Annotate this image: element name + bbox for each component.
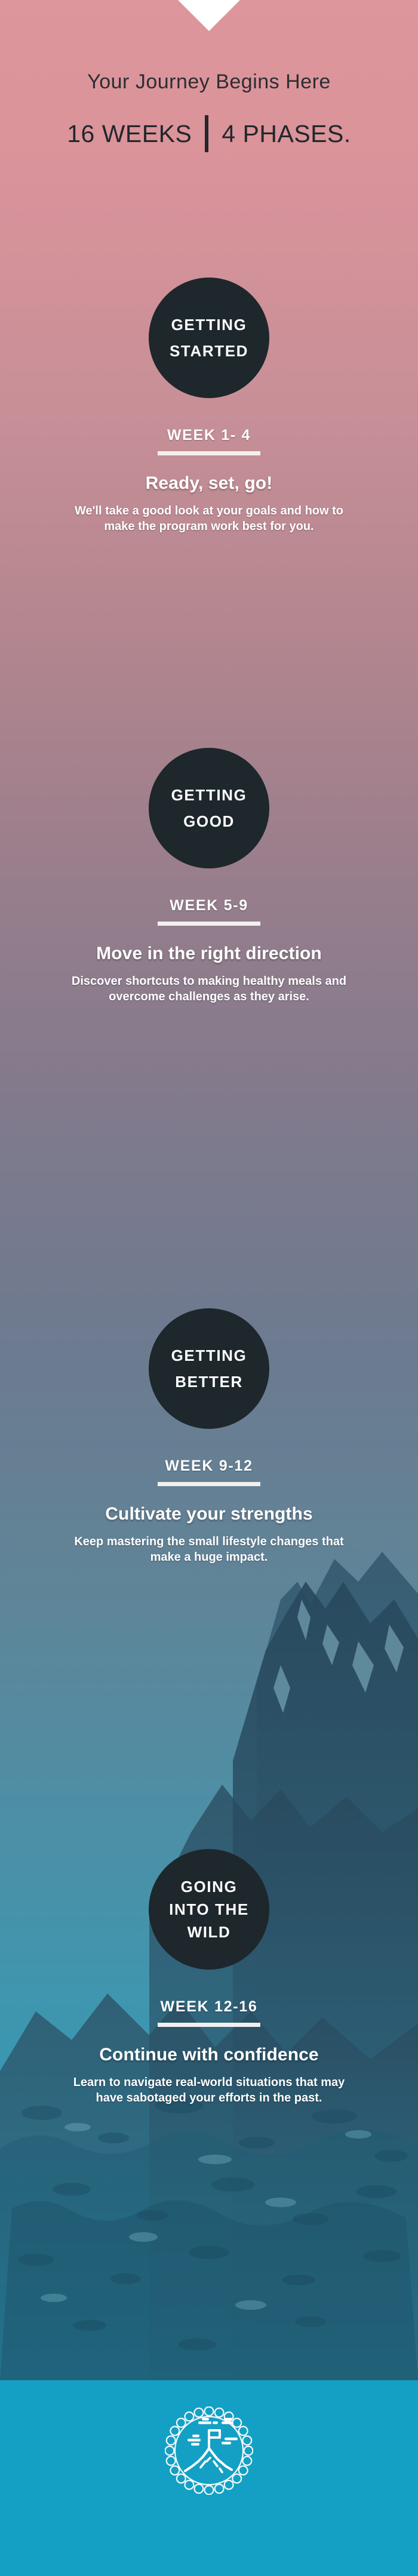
phase-4-body: Learn to navigate real-world situations …	[0, 2075, 418, 2106]
phase-1-headline: Ready, set, go!	[0, 473, 418, 494]
phase-3-body: Keep mastering the small lifestyle chang…	[0, 1534, 418, 1566]
phases-count: 4 PHASES.	[222, 120, 351, 148]
infographic-page: Your Journey Begins Here 16 WEEKS 4 PHAS…	[0, 0, 418, 2576]
phase-4-rule	[158, 2023, 260, 2027]
metrics-divider	[205, 115, 208, 152]
phase-circle-3-line2: BETTER	[175, 1374, 243, 1389]
phase-block-1: GETTING STARTED WEEK 1- 4 Ready, set, go…	[0, 278, 418, 534]
phase-3-headline: Cultivate your strengths	[0, 1504, 418, 1524]
phase-1-body: We'll take a good look at your goals and…	[0, 503, 418, 535]
phase-2-rule	[158, 922, 260, 926]
phase-circle-1-line1: GETTING	[171, 317, 247, 332]
phase-circle-1-line2: STARTED	[170, 343, 248, 359]
phase-2-body: Discover shortcuts to making healthy mea…	[0, 973, 418, 1005]
phase-3-rule	[158, 1482, 260, 1486]
phase-4-headline: Continue with confidence	[0, 2045, 418, 2065]
mountain-flag-badge-logo	[165, 2406, 253, 2498]
phase-circle-4-line3: WILD	[188, 1924, 231, 1940]
page-tagline: Your Journey Begins Here	[0, 70, 418, 94]
phase-circle-3[interactable]: GETTING BETTER	[149, 1308, 269, 1429]
phase-block-4: GOING INTO THE WILD WEEK 12-16 Continue …	[0, 1849, 418, 2106]
phase-circle-4-line2: INTO THE	[169, 1902, 249, 1917]
page-footer	[0, 2380, 418, 2576]
phase-circle-2[interactable]: GETTING GOOD	[149, 748, 269, 868]
phase-circle-3-line1: GETTING	[171, 1348, 247, 1363]
phase-2-headline: Move in the right direction	[0, 944, 418, 964]
phase-circle-2-line1: GETTING	[171, 787, 247, 803]
top-notch-triangle	[178, 0, 240, 31]
phase-block-2: GETTING GOOD WEEK 5-9 Move in the right …	[0, 748, 418, 1004]
phase-circle-1[interactable]: GETTING STARTED	[149, 278, 269, 398]
phase-1-week-label: WEEK 1- 4	[0, 427, 418, 444]
phase-block-3: GETTING BETTER WEEK 9-12 Cultivate your …	[0, 1308, 418, 1565]
weeks-count: 16 WEEKS	[67, 120, 192, 148]
phase-circle-2-line2: GOOD	[183, 814, 235, 829]
phase-1-rule	[158, 451, 260, 455]
phase-circle-4[interactable]: GOING INTO THE WILD	[149, 1849, 269, 1970]
program-metrics: 16 WEEKS 4 PHASES.	[0, 115, 418, 152]
phase-2-week-label: WEEK 5-9	[0, 897, 418, 914]
phase-4-week-label: WEEK 12-16	[0, 1998, 418, 2016]
phase-circle-4-line1: GOING	[181, 1879, 238, 1894]
phase-3-week-label: WEEK 9-12	[0, 1458, 418, 1475]
